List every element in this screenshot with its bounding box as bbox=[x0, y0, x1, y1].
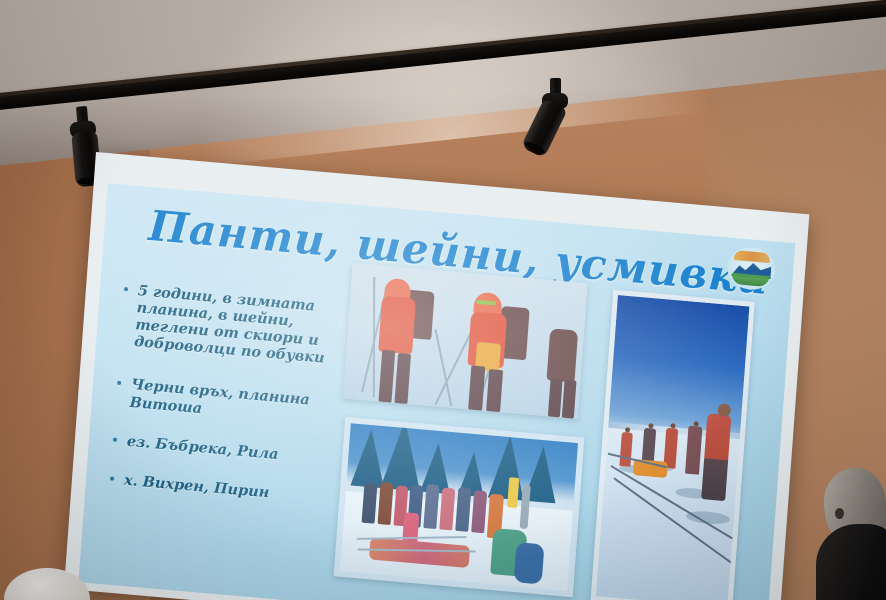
photo-inner bbox=[596, 295, 750, 600]
head bbox=[670, 423, 675, 428]
bullet-dot bbox=[124, 287, 128, 291]
list-item: Черни връх, планина Витоша bbox=[109, 375, 361, 431]
screen-surface: Панти, шейни, усмивки 5 години, в зимнат… bbox=[64, 152, 809, 600]
jacket bbox=[547, 328, 579, 382]
presentation-slide: Панти, шейни, усмивки 5 години, в зимнат… bbox=[78, 183, 795, 600]
leg bbox=[486, 369, 503, 412]
list-item: 5 години, в зимната планина, в шейни, те… bbox=[114, 280, 368, 370]
projection-screen: Панти, шейни, усмивки 5 години, в зимнат… bbox=[63, 152, 809, 600]
sign-post bbox=[507, 477, 519, 508]
projection-room-photo: Панти, шейни, усмивки 5 години, в зимнат… bbox=[0, 0, 886, 600]
bullet-dot bbox=[117, 381, 121, 385]
photo-group-sleds-bottom bbox=[334, 417, 585, 597]
skier-figure bbox=[371, 275, 438, 406]
leg bbox=[378, 350, 395, 403]
head bbox=[648, 423, 653, 428]
ear bbox=[835, 508, 844, 519]
skier-figure bbox=[540, 320, 587, 419]
leg bbox=[548, 378, 563, 417]
photo-inner bbox=[340, 423, 578, 590]
bullet-text: ез. Бъбрека, Рила bbox=[126, 432, 279, 462]
leg bbox=[394, 353, 411, 404]
list-item: ез. Бъбрека, Рила bbox=[106, 431, 356, 470]
organization-logo bbox=[726, 246, 777, 292]
bullet-dot bbox=[113, 437, 117, 441]
head bbox=[717, 403, 731, 417]
jacket bbox=[378, 295, 416, 354]
tree bbox=[380, 423, 425, 491]
bullet-text: Черни връх, планина Витоша bbox=[129, 376, 310, 416]
leg bbox=[562, 380, 577, 419]
bullet-text: 5 години, в зимната планина, в шейни, те… bbox=[134, 282, 326, 367]
list-item: х. Вихрен, Пирин bbox=[104, 470, 354, 509]
leg bbox=[468, 366, 485, 411]
tree bbox=[350, 428, 388, 489]
bullet-text: х. Вихрен, Пирин bbox=[123, 471, 269, 501]
person-foreground bbox=[514, 542, 545, 584]
head bbox=[625, 427, 630, 432]
bullet-dot bbox=[110, 476, 114, 480]
head bbox=[693, 421, 698, 426]
photo-skiers-top bbox=[343, 263, 588, 419]
shoulder bbox=[816, 524, 886, 600]
audience-member bbox=[800, 468, 886, 600]
slide-bullet-list: 5 години, в зимната планина, в шейни, те… bbox=[103, 280, 368, 514]
photo-snow-walkers-right bbox=[590, 290, 754, 600]
skier-figure bbox=[460, 281, 531, 414]
